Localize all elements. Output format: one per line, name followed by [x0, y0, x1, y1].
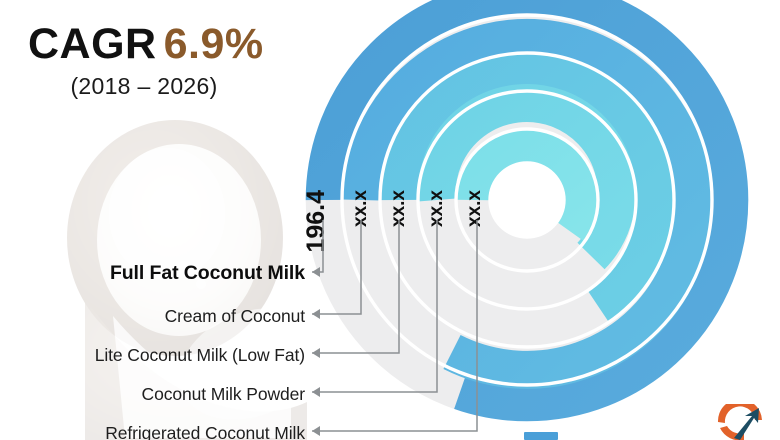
- leader-arrow-3: [312, 387, 320, 397]
- chart-center-hub: [493, 166, 561, 234]
- logo-navy-arrow: [734, 408, 759, 440]
- category-label-refrigerated-coconut-milk: Refrigerated Coconut Milk: [105, 423, 305, 440]
- leader-arrow-4: [312, 426, 320, 436]
- category-label-full-fat-coconut-milk: Full Fat Coconut Milk: [110, 262, 305, 285]
- infographic-canvas: 196.4 xx.x xx.x xx.x xx.x CAGR6.9% (2018…: [0, 0, 780, 440]
- value-label-0: 196.4: [302, 190, 330, 253]
- leader-arrow-2: [312, 348, 320, 358]
- category-label-lite-coconut-milk: Lite Coconut Milk (Low Fat): [95, 345, 305, 366]
- category-label-coconut-milk-powder: Coconut Milk Powder: [142, 384, 305, 405]
- category-label-stack: Full Fat Coconut Milk Cream of Coconut L…: [0, 0, 305, 440]
- legend-swatch: [524, 432, 558, 440]
- category-label-cream-of-coconut: Cream of Coconut: [165, 306, 305, 327]
- leader-arrow-1: [312, 309, 320, 319]
- value-label-4: xx.x: [464, 190, 485, 227]
- brand-logo: [714, 404, 780, 440]
